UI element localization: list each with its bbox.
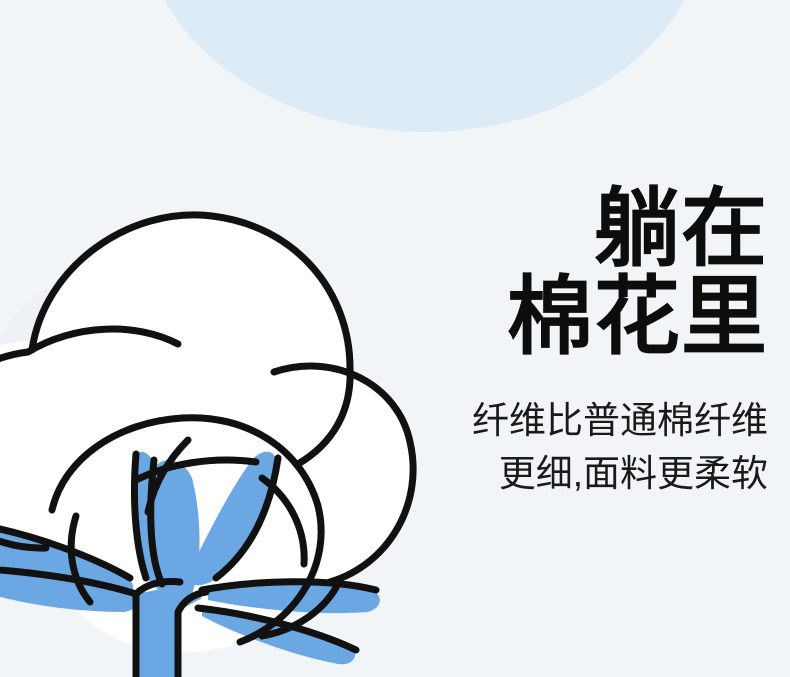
product-banner: 躺在 棉花里 纤维比普通棉纤维 更细,面料更柔软 [0,0,790,677]
subtitle-line-2: 更细,面料更柔软 [458,448,768,501]
cotton-boll-illustration [0,160,440,677]
headline-line-1: 躺在 [458,186,768,274]
headline-line-2: 棉花里 [458,274,768,362]
copy-block: 躺在 棉花里 纤维比普通棉纤维 更细,面料更柔软 [458,186,768,501]
blue-ellipse-decoration [142,0,707,132]
subtitle: 纤维比普通棉纤维 更细,面料更柔软 [458,395,768,500]
subtitle-line-1: 纤维比普通棉纤维 [458,395,768,448]
page-title: 躺在 棉花里 [458,186,768,361]
